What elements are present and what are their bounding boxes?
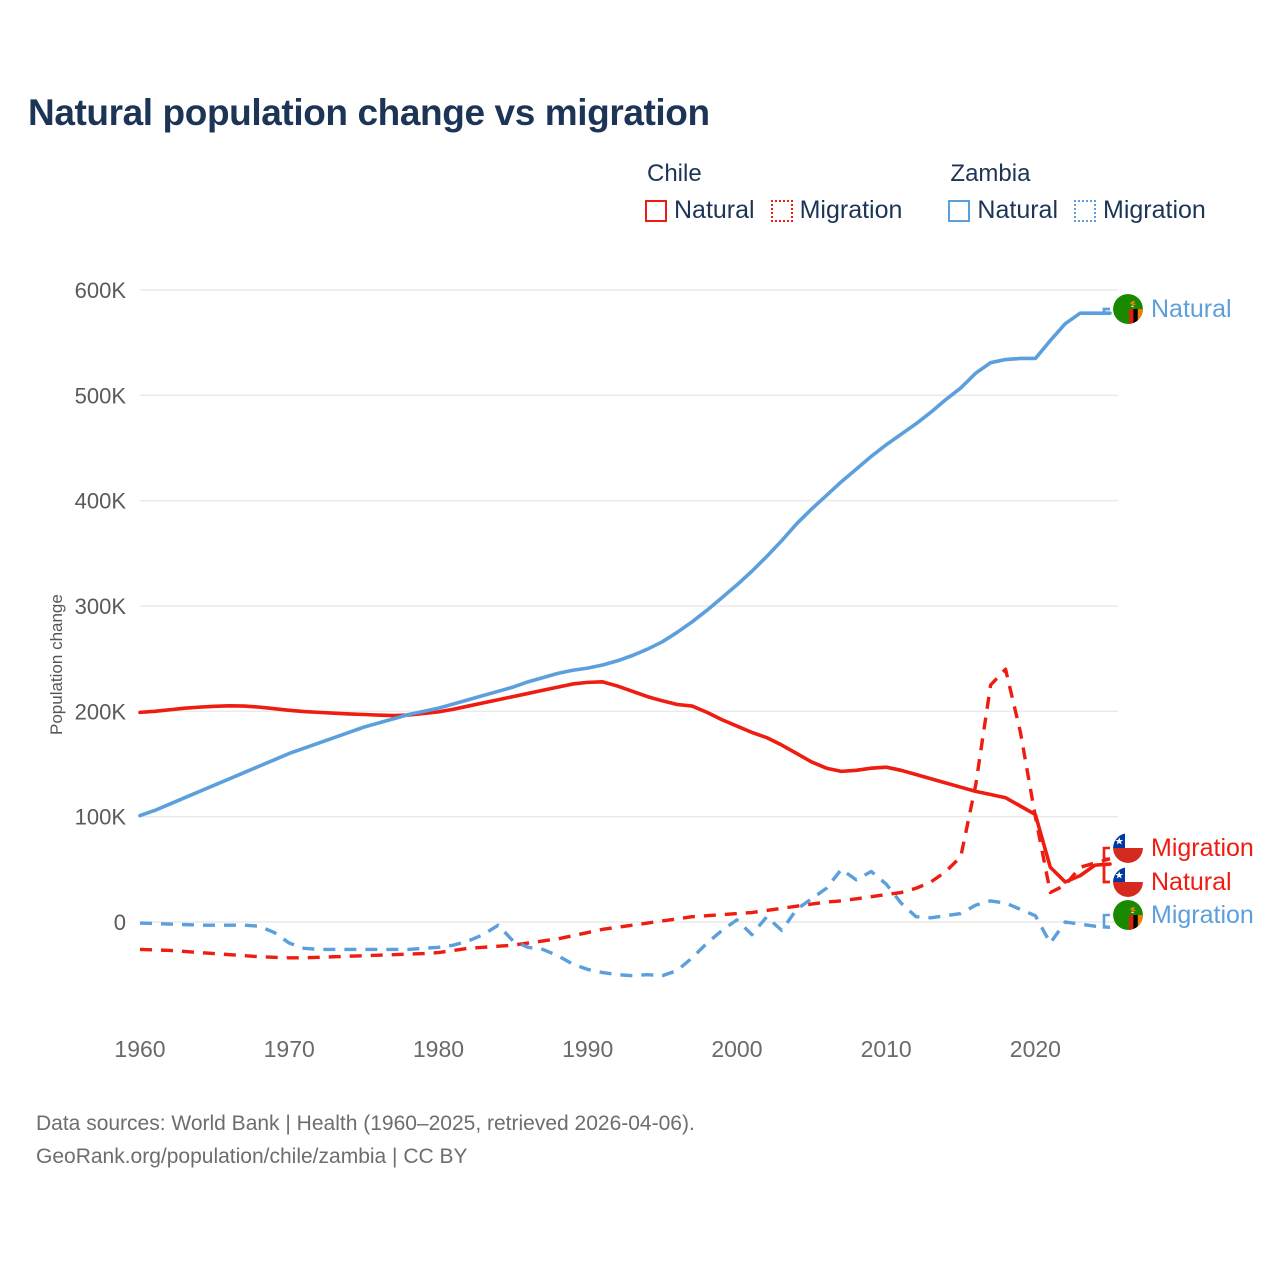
series-line-zambia-natural: [140, 313, 1110, 815]
series-leader-line: [1104, 848, 1110, 859]
chart-area: 0100K200K300K400K500K600K196019701980199…: [0, 0, 1280, 1280]
end-label-zambia-migration[interactable]: Migration: [1113, 900, 1254, 930]
x-axis-tick-label: 1960: [114, 1036, 165, 1062]
series-leader-line: [1104, 309, 1110, 313]
zambia-flag-icon: [1113, 294, 1143, 324]
end-label-chile-natural[interactable]: Natural: [1113, 867, 1232, 897]
y-axis-tick-label: 200K: [75, 699, 127, 724]
chart-footer: Data sources: World Bank | Health (1960–…: [36, 1108, 695, 1173]
y-axis-tick-label: 400K: [75, 489, 127, 514]
x-axis-tick-label: 1980: [413, 1036, 464, 1062]
x-axis-tick-label: 1990: [562, 1036, 613, 1062]
footer-attribution: GeoRank.org/population/chile/zambia | CC…: [36, 1141, 695, 1174]
y-axis-tick-label: 300K: [75, 594, 127, 619]
x-axis-tick-label: 1970: [264, 1036, 315, 1062]
x-axis-tick-label: 2000: [711, 1036, 762, 1062]
chile-flag-icon: [1113, 867, 1143, 897]
end-label-text: Migration: [1151, 834, 1254, 863]
zambia-flag-icon: [1113, 900, 1143, 930]
end-label-chile-migration[interactable]: Migration: [1113, 833, 1254, 863]
y-axis-tick-label: 0: [114, 910, 126, 935]
y-axis-tick-label: 100K: [75, 805, 127, 830]
x-axis-tick-label: 2010: [861, 1036, 912, 1062]
y-axis-tick-label: 600K: [75, 278, 127, 303]
end-label-text: Natural: [1151, 295, 1232, 324]
y-axis-title: Population change: [47, 594, 66, 735]
end-label-zambia-natural[interactable]: Natural: [1113, 294, 1232, 324]
chart-page: Natural population change vs migration C…: [0, 0, 1280, 1280]
line-chart-svg: 0100K200K300K400K500K600K196019701980199…: [0, 0, 1280, 1280]
x-axis-tick-label: 2020: [1010, 1036, 1061, 1062]
series-line-chile-migration: [140, 669, 1110, 958]
end-label-text: Natural: [1151, 868, 1232, 897]
end-label-text: Migration: [1151, 901, 1254, 930]
series-leader-line: [1104, 864, 1110, 882]
chile-flag-icon: [1113, 833, 1143, 863]
footer-data-sources: Data sources: World Bank | Health (1960–…: [36, 1108, 695, 1141]
y-axis-tick-label: 500K: [75, 383, 127, 408]
